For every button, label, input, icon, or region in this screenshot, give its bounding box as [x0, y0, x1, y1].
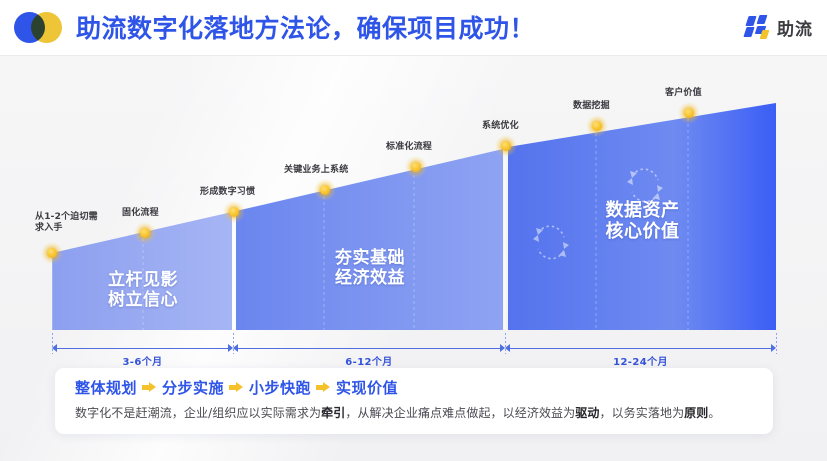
- timeline-label-3: 12-24个月: [505, 353, 776, 368]
- node-dot: [684, 108, 694, 118]
- corp-logo-text: 助流: [777, 15, 813, 40]
- milestone-label-3: 形成数字习惯: [200, 184, 255, 197]
- node-dot: [592, 121, 602, 131]
- principle-chip-1: 整体规划: [75, 377, 137, 398]
- timeline-span-2: [233, 344, 505, 353]
- timeline-tick: [776, 333, 777, 354]
- overlapping-circles-logo: [14, 12, 70, 43]
- lightning-bolt-icon: [745, 14, 772, 40]
- timeline-span-3: [505, 344, 776, 353]
- summary-card: 整体规划 分步实施 小步快跑 实现价值 数字化不是赶潮流，企业/组织应以实际需求…: [55, 368, 773, 434]
- milestone-label-2: 固化流程: [122, 205, 159, 218]
- node-dot: [229, 207, 239, 217]
- principle-chip-4: 实现价值: [336, 377, 398, 398]
- slide-canvas: 助流数字化落地方法论，确保项目成功！ 助流: [0, 0, 827, 461]
- right-arrow-icon: [316, 382, 331, 393]
- milestone-label-4: 关键业务上系统: [284, 162, 348, 175]
- ramp-shape: [0, 55, 827, 345]
- node-dot: [411, 162, 421, 172]
- timeline-label-2: 6-12个月: [233, 353, 505, 368]
- slide-header: 助流数字化落地方法论，确保项目成功！ 助流: [0, 0, 827, 56]
- timeline-label-1: 3-6个月: [52, 353, 233, 368]
- cycle-arrows-icon: [622, 160, 668, 212]
- timeline-span-1: [52, 344, 233, 353]
- milestone-label-1: 从1-2个迫切需求入手: [35, 212, 101, 234]
- milestone-label-5: 标准化流程: [386, 139, 432, 152]
- milestone-label-6: 系统优化: [482, 118, 519, 131]
- logo-circle-gold: [31, 12, 62, 43]
- node-dot: [140, 228, 150, 238]
- timeline-axis: 3-6个月 6-12个月 12-24个月: [0, 333, 827, 367]
- corp-logo: 助流: [745, 12, 813, 42]
- principle-chip-2: 分步实施: [162, 377, 224, 398]
- principle-chip-3: 小步快跑: [249, 377, 311, 398]
- page-title: 助流数字化落地方法论，确保项目成功！: [76, 9, 535, 45]
- cycle-arrows-icon: [528, 217, 574, 269]
- staircase-ramp-chart: 立杆见影 树立信心 夯实基础 经济效益 数据资产 核心价值: [0, 55, 827, 345]
- node-dot: [47, 248, 57, 258]
- principle-chip-row: 整体规划 分步实施 小步快跑 实现价值: [75, 377, 398, 398]
- right-arrow-icon: [229, 382, 244, 393]
- node-dot: [501, 141, 511, 151]
- summary-description: 数字化不是赶潮流，企业/组织应以实际需求为牵引，从解决企业痛点难点做起，以经济效…: [75, 404, 757, 422]
- milestone-label-7: 数据挖掘: [573, 98, 610, 111]
- right-arrow-icon: [142, 382, 157, 393]
- node-dot: [320, 185, 330, 195]
- milestone-label-8: 客户价值: [665, 85, 702, 98]
